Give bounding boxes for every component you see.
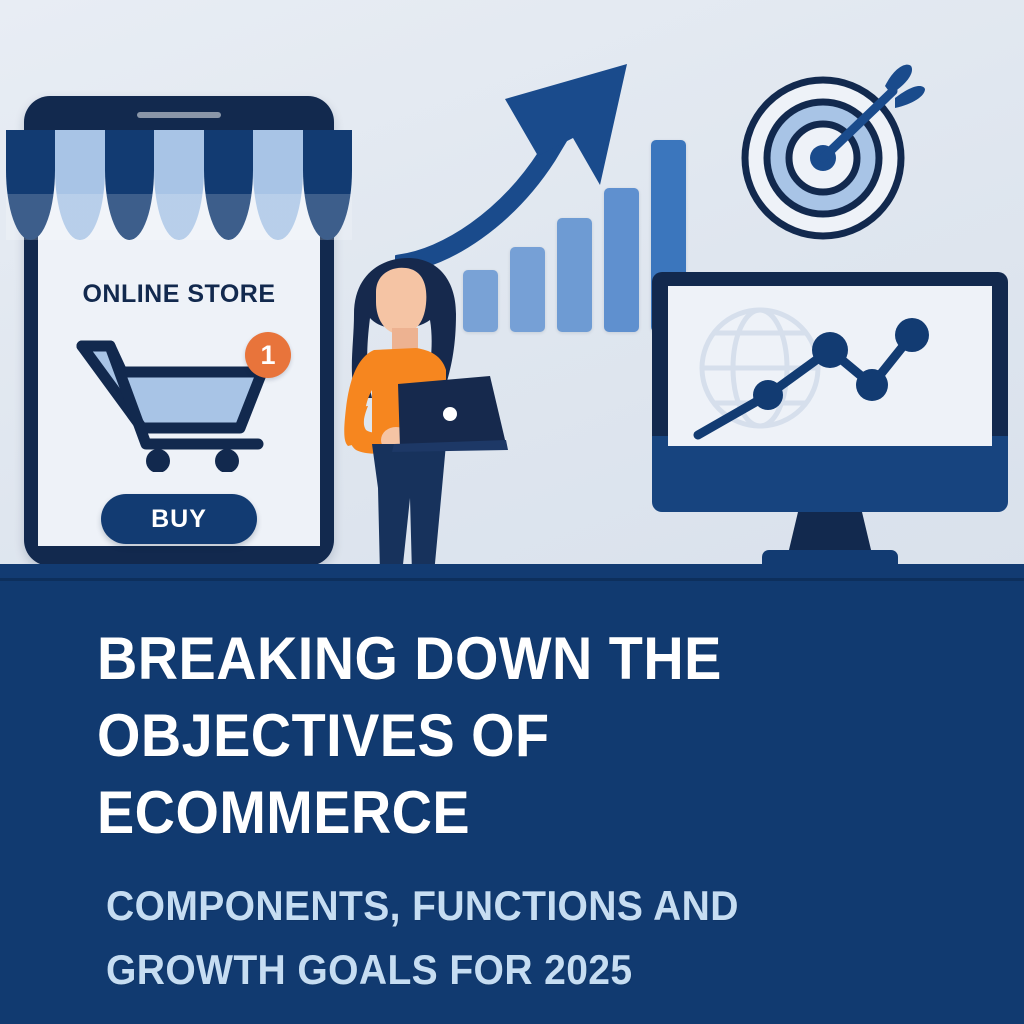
smartphone-storefront[interactable]: ONLINE STORE 1 BUY: [24, 96, 334, 566]
awning-stripe: [303, 130, 352, 240]
person-with-laptop-illustration: [330, 258, 510, 578]
subheadline-line-2: GROWTH GOALS FOR 2025: [106, 938, 924, 1002]
desktop-monitor-icon: [650, 272, 1010, 578]
bar-4: [604, 188, 639, 332]
awning-stripe: [253, 130, 302, 240]
ecommerce-poster: ONLINE STORE 1 BUY: [0, 0, 1024, 1024]
phone-speaker-icon: [137, 112, 221, 118]
target-bullseye-icon: [735, 58, 925, 248]
awning-stripe: [6, 130, 55, 240]
bar-3: [557, 218, 592, 332]
text-band: BREAKING DOWN THE OBJECTIVES OF ECOMMERC…: [0, 578, 1024, 1024]
bar-2: [510, 247, 545, 332]
headline-line-2: OBJECTIVES OF: [97, 697, 897, 774]
awning-stripe: [55, 130, 104, 240]
awning-stripe: [204, 130, 253, 240]
subheadline-line-1: COMPONENTS, FUNCTIONS AND: [106, 874, 924, 938]
cart-badge-count: 1: [245, 332, 291, 378]
shopping-cart-icon[interactable]: 1: [72, 332, 287, 472]
page-subtitle: COMPONENTS, FUNCTIONS AND GROWTH GOALS F…: [106, 874, 924, 1002]
page-title: BREAKING DOWN THE OBJECTIVES OF ECOMMERC…: [97, 620, 897, 851]
awning: [6, 130, 352, 240]
awning-stripe: [105, 130, 154, 240]
store-title: ONLINE STORE: [38, 280, 320, 309]
buy-button[interactable]: BUY: [101, 494, 257, 544]
headline-line-1: BREAKING DOWN THE: [97, 620, 897, 697]
awning-stripe: [154, 130, 203, 240]
floor-strip: [0, 564, 1024, 578]
headline-line-3: ECOMMERCE: [97, 774, 897, 851]
band-divider: [0, 578, 1024, 581]
illustration-area: ONLINE STORE 1 BUY: [0, 0, 1024, 578]
